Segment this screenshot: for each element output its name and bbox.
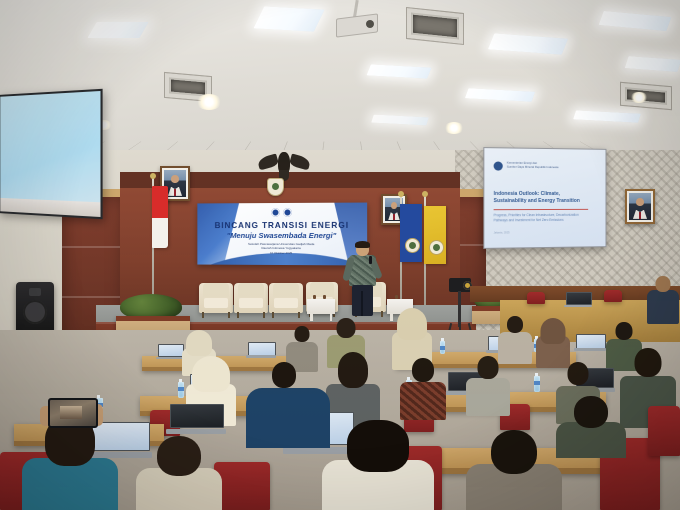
person-body	[246, 388, 330, 448]
presenter-trousers	[352, 285, 373, 316]
projector-lens-icon	[366, 20, 374, 28]
banner-date: 10 Oktober 2025	[197, 251, 367, 256]
laptop	[248, 342, 274, 358]
presenter-person	[345, 242, 379, 316]
presenter-hair	[355, 241, 370, 248]
person-head	[491, 430, 537, 474]
speaker-driver-icon	[23, 300, 47, 324]
laptop-base	[574, 348, 606, 351]
person-head	[295, 326, 310, 342]
cup-icon	[323, 295, 326, 299]
attendee-phone-camera	[48, 398, 94, 428]
banner-logo-icon-1	[271, 208, 280, 217]
slide-org-logo-icon	[494, 161, 503, 170]
slide-subtitle: Progress, Priorities for Clean Infrastru…	[494, 213, 591, 223]
banner-subtitle: "Menuju Swasembada Energi"	[197, 231, 367, 240]
ceiling-projector	[336, 0, 378, 40]
person-head	[656, 276, 671, 292]
tripod-column	[458, 291, 461, 327]
laptop-screen	[566, 292, 592, 305]
water-bottle	[440, 341, 445, 354]
ceiling-downlight	[444, 122, 464, 134]
institution-flag-gold	[424, 206, 446, 264]
person-body	[647, 290, 679, 324]
audience-person	[466, 356, 510, 416]
person-head	[412, 358, 434, 382]
person-head	[272, 362, 296, 388]
audience-chair	[648, 406, 680, 456]
bottle-label	[178, 387, 184, 391]
person-body	[466, 378, 510, 416]
stage-side-table	[307, 299, 335, 314]
flag-emblem-icon	[405, 238, 420, 253]
slide-org-text: Kementerian Energi dan Sumber Daya Miner…	[507, 161, 559, 170]
portrait-tie	[174, 189, 176, 196]
laptop-base	[246, 355, 276, 358]
laptop	[170, 404, 222, 434]
banner-organizer: Sekolah Pascasarjana Universitas Gadjah …	[197, 242, 367, 251]
armchair-seat	[274, 298, 298, 308]
armchair-back	[238, 283, 264, 297]
laptop-base	[166, 429, 226, 434]
banner-logos	[197, 207, 367, 219]
person-head	[338, 352, 368, 388]
armchair-seat	[204, 298, 228, 308]
hijab	[192, 356, 230, 392]
ceiling-light-panel	[87, 22, 148, 38]
audience-person-hijab	[536, 318, 570, 368]
slide-footer: Jakarta, 2025	[494, 231, 510, 234]
laptop-screen	[170, 404, 224, 428]
planter-rim	[116, 316, 190, 321]
portrait-tie	[393, 214, 394, 220]
person-head	[478, 356, 499, 379]
wood-panel-seam	[62, 296, 124, 298]
audience-person	[466, 430, 562, 510]
armchair-back	[203, 283, 229, 297]
audience-chair	[527, 292, 545, 304]
bottle-label	[534, 381, 540, 385]
projection-screen-right: Kementerian Energi dan Sumber Daya Miner…	[483, 147, 606, 249]
armchair-leg	[298, 312, 300, 318]
person-head	[507, 316, 523, 333]
ceiling-light-panel	[573, 110, 641, 122]
wood-panel-seam	[62, 246, 124, 248]
ac-vent	[406, 7, 464, 45]
garuda-wing-right	[289, 153, 312, 170]
laptop-screen	[576, 334, 606, 349]
garuda-wing-left	[257, 153, 280, 170]
water-bottle	[534, 376, 540, 392]
banner-logo-icon-2	[282, 208, 291, 217]
cup-icon	[313, 295, 316, 299]
person-head	[568, 362, 589, 385]
laptop-screen	[158, 344, 184, 357]
stage-armchair	[234, 283, 268, 313]
person-head	[635, 348, 662, 377]
laptop	[566, 292, 590, 307]
armchair-leg	[272, 312, 274, 318]
pancasila-shield-icon	[267, 178, 284, 196]
person-head	[574, 396, 608, 428]
seminar-hall-photo: BINCANG TRANSISI ENERGI "Menuju Swasemba…	[0, 0, 680, 510]
armchair-back	[273, 283, 299, 297]
phone-screen	[48, 398, 98, 428]
slide-title: Indonesia Outlook: Climate, Sustainabili…	[494, 191, 590, 205]
ceiling-light-panel	[488, 33, 568, 54]
laptop	[158, 344, 182, 359]
laptop-base	[564, 305, 592, 307]
portrait-head	[391, 202, 397, 209]
portrait-image	[629, 193, 651, 220]
pa-speaker-cabinet	[16, 282, 54, 334]
audience-chair	[214, 462, 270, 510]
institution-flag-blue	[400, 204, 422, 262]
audience-person	[22, 416, 118, 510]
flag-emblem-icon	[429, 240, 444, 255]
ceiling-light-panel	[366, 64, 431, 78]
flagpole-finial	[150, 173, 156, 179]
portrait-tie	[639, 212, 641, 219]
ceiling-light-panel	[371, 115, 429, 126]
indonesia-flag	[152, 186, 168, 248]
person-head	[157, 436, 201, 476]
laptop	[576, 334, 604, 351]
flagpole-finial	[398, 191, 404, 197]
audience-person	[646, 276, 680, 324]
armchair-leg	[228, 312, 230, 318]
audience-person	[322, 420, 434, 510]
person-body	[400, 382, 446, 420]
flagpole-finial	[422, 191, 428, 197]
ceiling-downlight	[196, 94, 222, 110]
laptop-screen	[248, 342, 276, 356]
ceiling-light-panel	[599, 11, 672, 31]
stage-armchair	[199, 283, 233, 313]
audience-person	[136, 436, 222, 510]
laptop-base	[156, 357, 184, 359]
projection-screen-left	[0, 89, 103, 219]
stage-armchair	[269, 283, 303, 313]
armchair-seat	[239, 298, 263, 308]
person-head	[347, 420, 409, 472]
event-banner: BINCANG TRANSISI ENERGI "Menuju Swasemba…	[197, 203, 367, 266]
armchair-leg	[237, 312, 239, 318]
armchair-leg	[381, 311, 383, 317]
side-table-leg	[310, 313, 313, 321]
armchair-leg	[202, 312, 204, 318]
portrait-official-right-wall	[625, 189, 655, 224]
portrait-head	[636, 198, 643, 206]
hijab	[397, 308, 427, 340]
ceiling-light-panel	[253, 6, 324, 31]
slide-divider	[494, 209, 589, 210]
person-head	[337, 318, 356, 338]
ceiling-light-panel	[625, 56, 680, 72]
audience-chair	[604, 290, 622, 302]
ceiling-downlight	[630, 92, 648, 103]
speaker-tweeter-icon	[29, 288, 41, 296]
audience-person	[246, 388, 330, 448]
audience-person	[400, 358, 446, 420]
ceiling-light-panel	[465, 88, 535, 102]
water-bottle	[178, 382, 184, 398]
garuda-emblem-icon	[258, 150, 310, 182]
person-head	[616, 322, 633, 340]
hijab	[186, 330, 212, 356]
cup-icon	[395, 295, 398, 299]
bottle-label	[440, 346, 445, 350]
banner-title: BINCANG TRANSISI ENERGI	[197, 220, 367, 230]
slide-org-line-2: Sumber Daya Mineral Republik Indonesia	[507, 165, 559, 170]
armchair-back	[310, 282, 334, 296]
audience-person	[556, 396, 626, 458]
microphone-icon	[369, 256, 372, 264]
hijab	[541, 318, 566, 344]
portrait-head	[171, 175, 178, 183]
armchair-leg	[263, 312, 265, 318]
